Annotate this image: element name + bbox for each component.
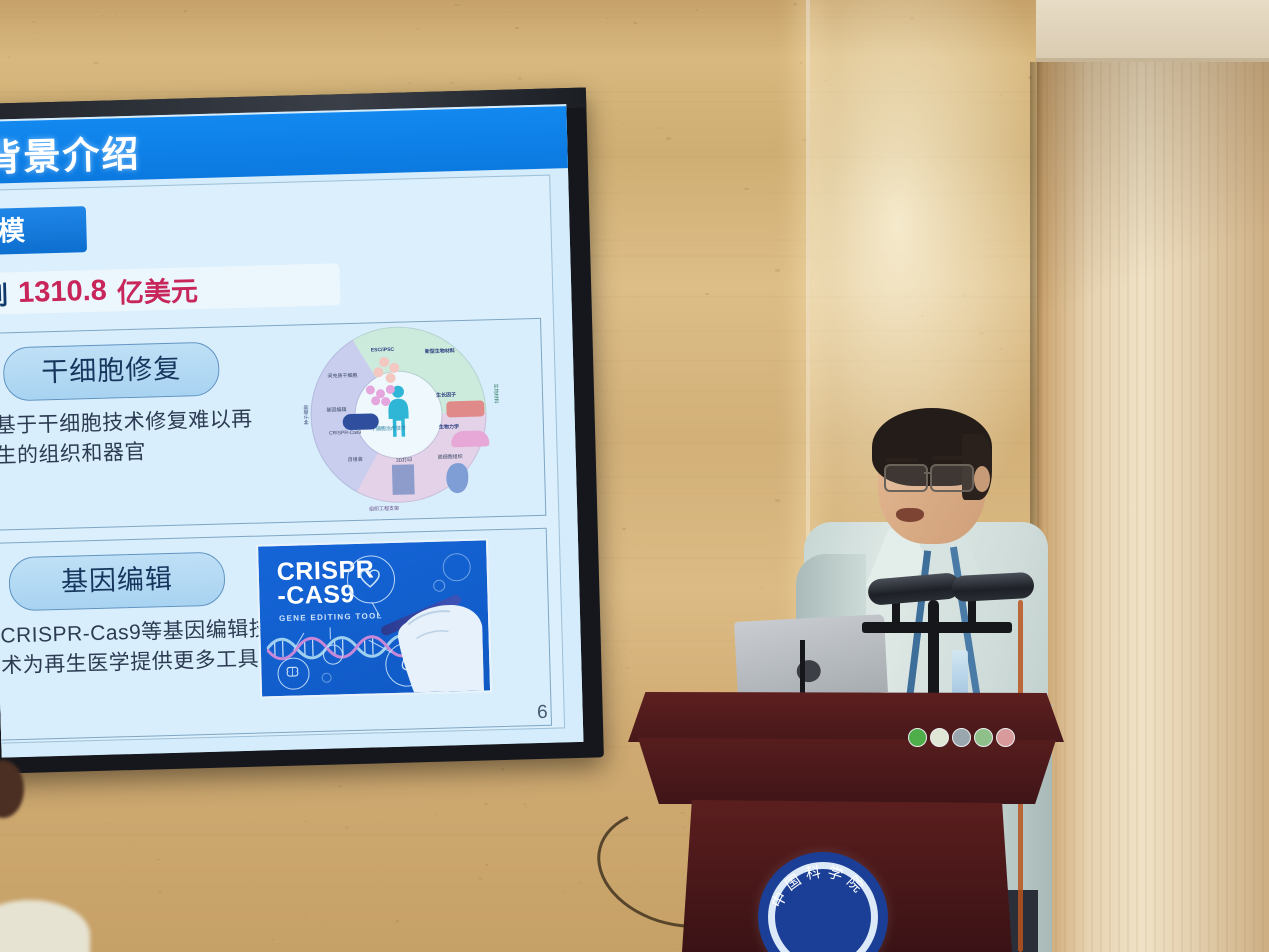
- podium: 中国科学院 SIAT: [620, 692, 1070, 952]
- screen-surface: 设背景介绍 模 达到 1310.8 亿美元 干细胞修复 基于干细胞技术修复难以: [0, 104, 583, 758]
- biomechanics-icon: [451, 430, 489, 447]
- glasses-lens-left: [884, 464, 928, 492]
- chromosome-icon: [343, 413, 379, 430]
- pie-label-biomechanics: 生物力学: [439, 423, 459, 431]
- kidney-icon: [446, 463, 469, 494]
- presentation-photo: 设背景介绍 模 达到 1310.8 亿美元 干细胞修复 基于干细胞技术修复难以: [0, 0, 1269, 952]
- speaker-eyebrow-right: [932, 456, 964, 460]
- siat-acronym: SIAT: [758, 914, 888, 948]
- kpi-line: 达到 1310.8 亿美元: [0, 263, 341, 316]
- microphone-neck-left: [892, 600, 900, 626]
- podium-button-5[interactable]: [996, 728, 1015, 747]
- card-pill-gene-editing: 基因编辑: [8, 552, 225, 612]
- hand-icon: [385, 587, 484, 694]
- kpi-lead-text: 达到: [0, 275, 9, 313]
- heart-icon: [359, 567, 382, 590]
- card-body-gene-editing: CRISPR-Cas9等基因编辑技术为再生医学提供更多工具: [0, 614, 272, 681]
- kpi-unit: 亿美元: [116, 269, 198, 310]
- podium-button-4[interactable]: [974, 728, 993, 747]
- podium-button-2[interactable]: [930, 728, 949, 747]
- slide: 设背景介绍 模 达到 1310.8 亿美元 干细胞修复 基于干细胞技术修复难以: [0, 104, 583, 758]
- pie-label-crispr: CRISPR-Cas9: [329, 430, 361, 437]
- glasses-lens-right: [930, 464, 974, 492]
- pie-label-biomaterial-sector: 生物材料: [492, 383, 500, 403]
- crispr-illustration: CRISPR -CAS9 GENE EDITING TOOL: [256, 538, 492, 698]
- glasses-bridge: [924, 472, 932, 474]
- slide-title: 设背景介绍: [0, 124, 141, 183]
- slide-body: 模 达到 1310.8 亿美元 干细胞修复 基于干细胞技术修复难以再生的组织和器…: [0, 175, 565, 746]
- pie-label-biomaterial: 新型生物材料: [425, 347, 455, 355]
- ceiling: [1036, 0, 1269, 62]
- card-gene-editing: 基因编辑 CRISPR-Cas9等基因编辑技术为再生医学提供更多工具 CRISP…: [0, 528, 552, 742]
- pie-label-3d-print: 3D打印: [396, 456, 413, 463]
- microphone-t-bar: [862, 622, 1012, 633]
- card-pill-stem-cell: 干细胞修复: [3, 342, 220, 402]
- siat-logo: 中国科学院 SIAT: [758, 852, 888, 952]
- pie-label-self-assembly: 自组装: [348, 456, 363, 463]
- pie-label-decellularized: 脱细胞组织: [438, 453, 463, 461]
- growth-factor-icon: [446, 400, 484, 417]
- printer-icon: [392, 464, 415, 495]
- crispr-subtitle: GENE EDITING TOOL: [279, 611, 383, 623]
- brain-icon: [284, 664, 300, 680]
- pie-label-seed-cells: ESC/iPSC: [371, 347, 394, 354]
- display-screen: 设背景介绍 模 达到 1310.8 亿美元 干细胞修复 基于干细胞技术修复难以: [0, 88, 604, 774]
- card-stem-cell-repair: 干细胞修复 基于干细胞技术修复难以再生的组织和器官 ESC/iPSC 间: [0, 318, 546, 532]
- pie-label-scaffold: 组织工程支架: [369, 505, 399, 513]
- pie-label-growth-factor: 生长因子: [436, 391, 456, 399]
- speaker-eyebrow-left: [886, 458, 918, 462]
- crispr-title-line2: -CAS9: [277, 580, 355, 610]
- microphone-right[interactable]: [951, 572, 1034, 602]
- decorative-molecule-circle: [442, 553, 471, 582]
- podium-button-1[interactable]: [908, 728, 927, 747]
- connector-line: [330, 627, 332, 639]
- decorative-molecule-dot: [322, 673, 332, 683]
- card-body-stem-cell: 基于干细胞技术修复难以再生的组织和器官: [0, 404, 266, 471]
- academy-building-icon: [798, 892, 848, 914]
- podium-front-face: [638, 738, 1056, 804]
- pie-label-gene-edit: 基因编辑: [326, 406, 346, 414]
- pie-label-seed-sector: 种子细胞: [303, 405, 311, 425]
- speaker-ear: [974, 466, 990, 492]
- podium-button-3[interactable]: [952, 728, 971, 747]
- pie-label-msc: 间充质干细胞: [327, 372, 357, 380]
- kpi-badge: 模: [0, 206, 87, 256]
- regenerative-circle-diagram: ESC/iPSC 间充质干细胞 基因编辑 CRISPR-Cas9 新型生物材料 …: [252, 330, 519, 517]
- slide-page-number: 6: [537, 702, 548, 724]
- speaker-mouth: [896, 508, 924, 522]
- podium-control-buttons[interactable]: [908, 728, 1015, 747]
- right-wood-shadow: [1037, 62, 1269, 392]
- kpi-number: 1310.8: [18, 274, 108, 309]
